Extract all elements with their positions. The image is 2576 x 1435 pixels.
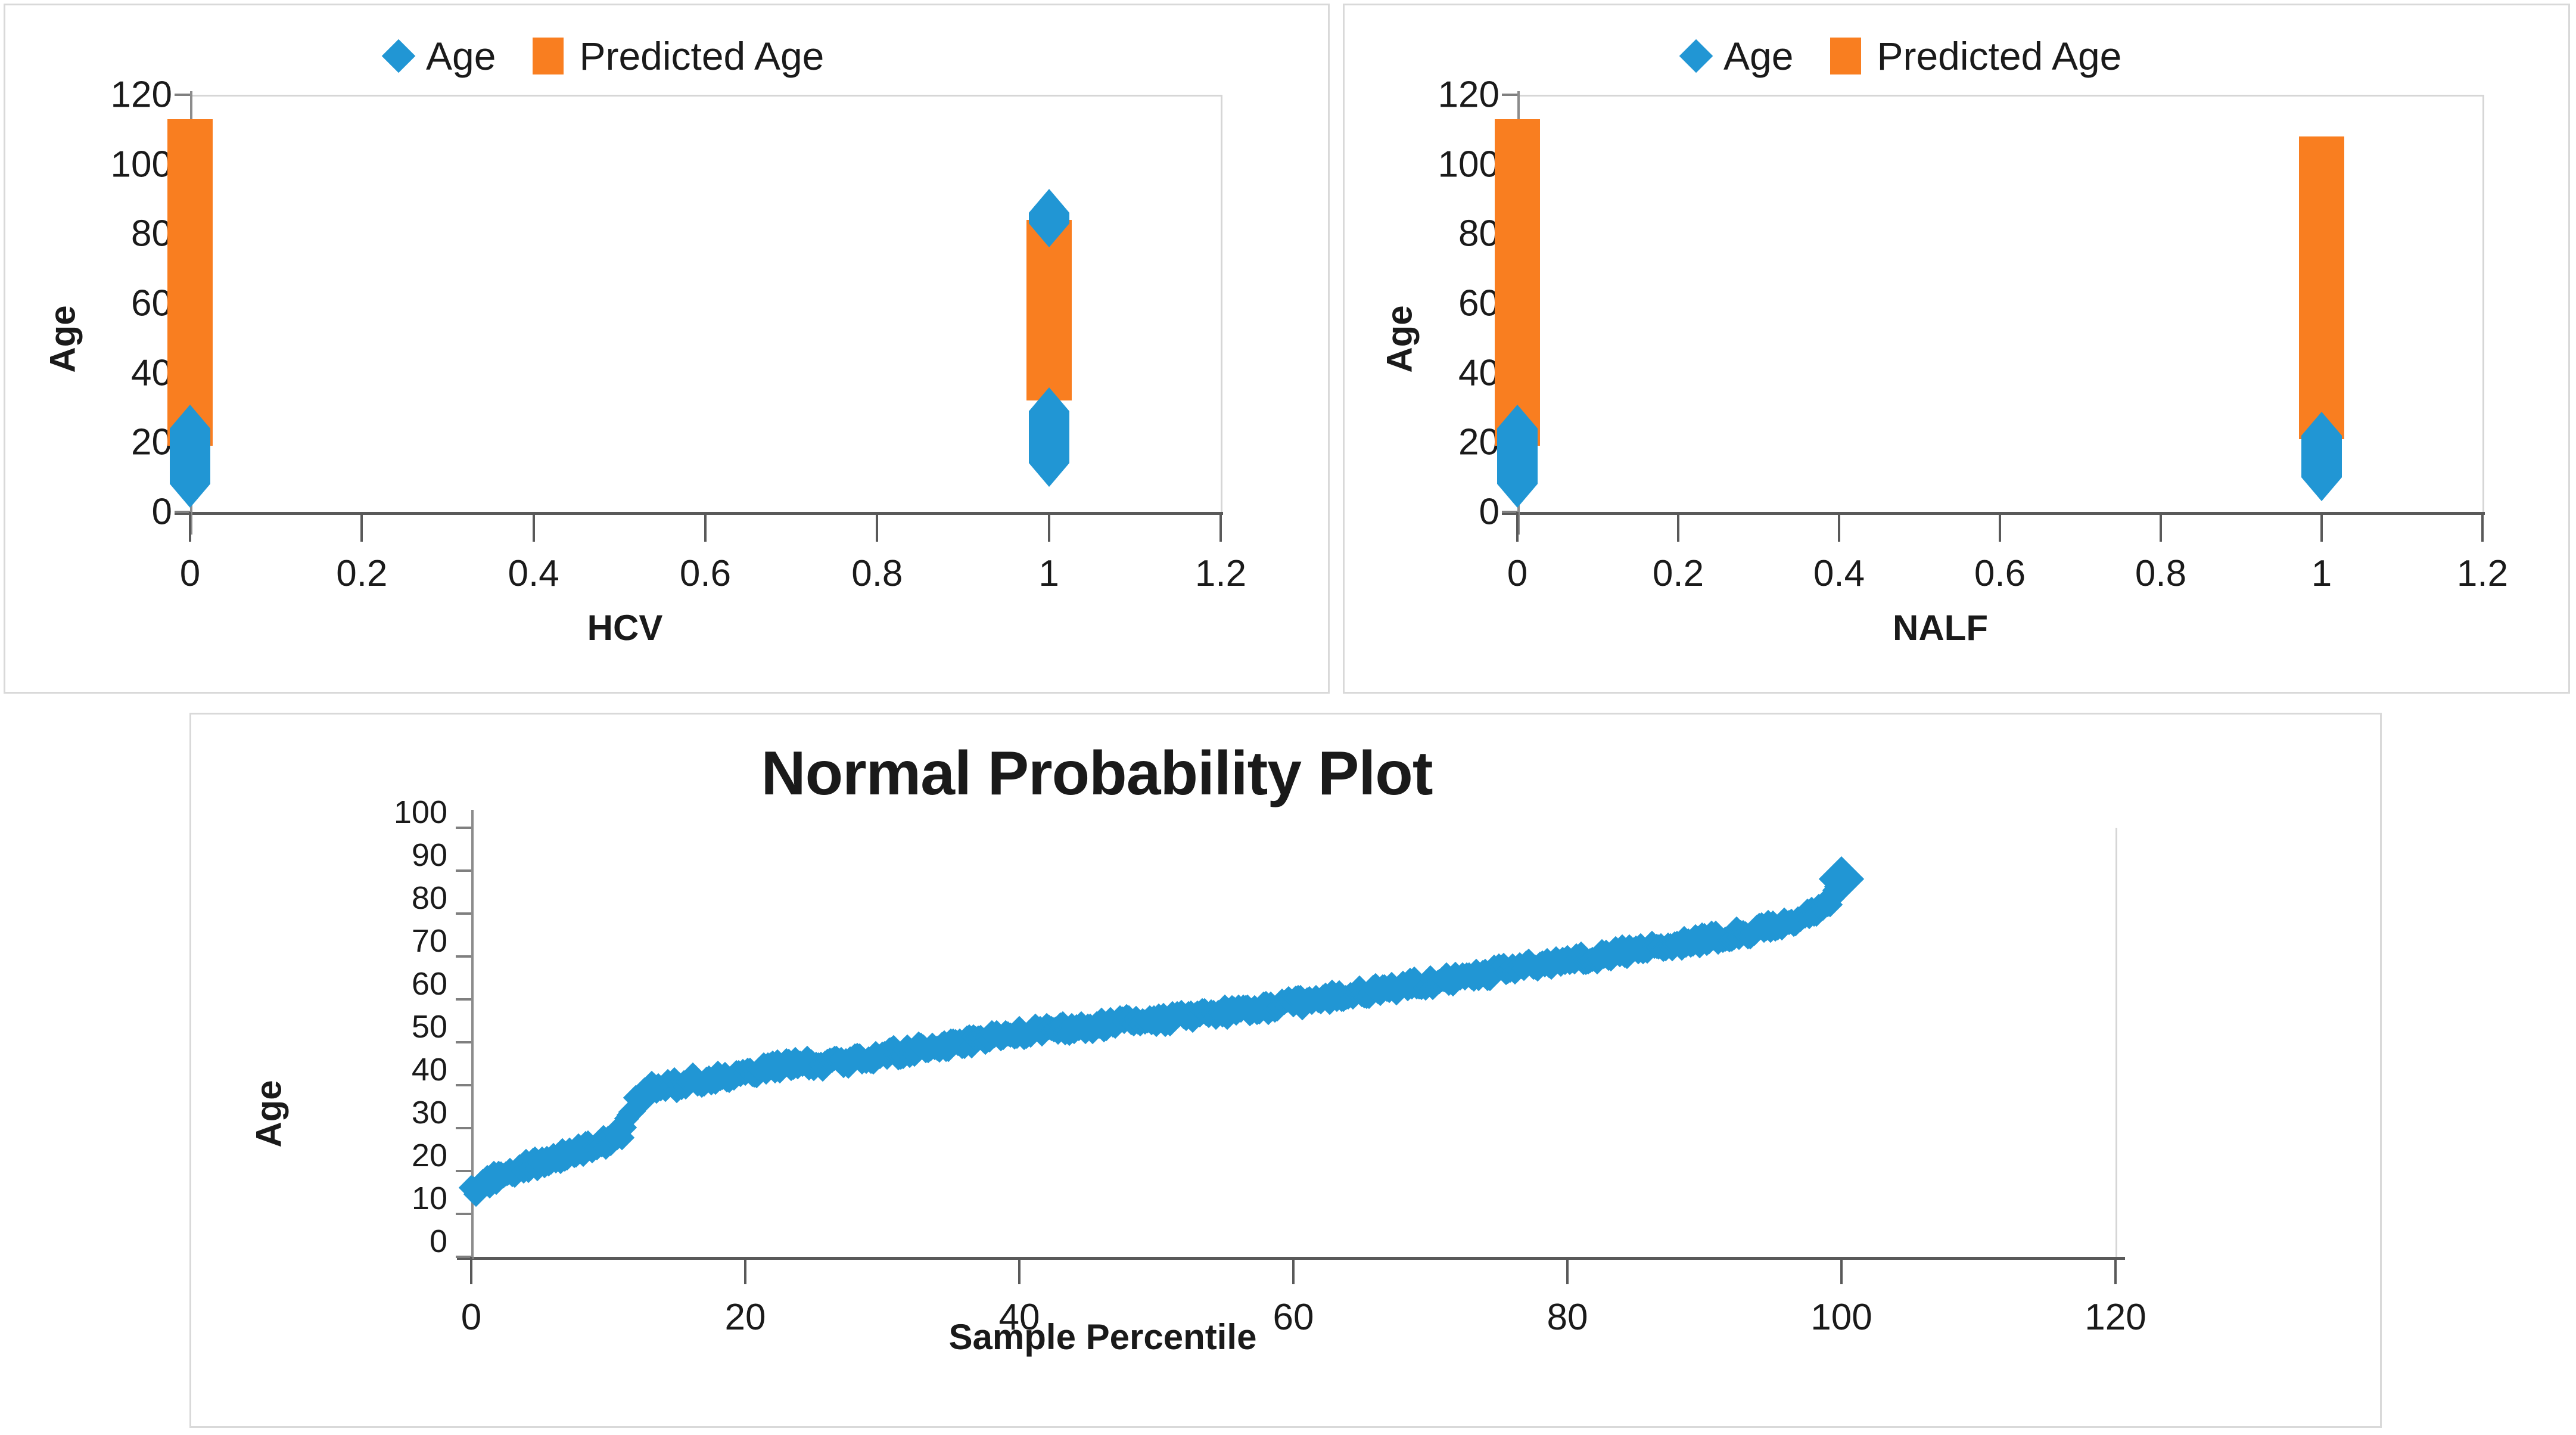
x-tick-label: 80: [1547, 1296, 1588, 1338]
y-tick-label: 30: [322, 1094, 447, 1131]
legend-label-predicted-age: Predicted Age: [579, 36, 824, 76]
x-tick-label: 120: [2085, 1296, 2146, 1338]
y-tick-label: 0: [59, 491, 172, 533]
legend-nalf: Age Predicted Age: [1684, 36, 2121, 76]
x-tick-label: 60: [1273, 1296, 1314, 1338]
x-tick: [704, 512, 707, 542]
x-tick: [1838, 512, 1840, 542]
x-axis-title-npp: Sample Percentile: [949, 1316, 1257, 1358]
y-tick-label: 0: [322, 1223, 447, 1260]
y-tick-label: 70: [322, 922, 447, 959]
age-diamond-tip: [170, 484, 210, 508]
x-tick: [876, 512, 878, 542]
x-tick-label: 0.6: [680, 552, 731, 595]
x-tick: [1840, 1257, 1843, 1284]
age-diamond-icon: [382, 39, 416, 73]
x-tick-label: 0.4: [508, 552, 559, 595]
y-tick-label: 60: [322, 965, 447, 1002]
predicted-age-bar: [1495, 119, 1540, 446]
x-axis-line: [1502, 512, 2485, 515]
x-tick-label: 0: [461, 1296, 481, 1338]
x-tick: [189, 512, 191, 542]
age-diamond-tip: [1029, 463, 1069, 487]
age-diamond-icon: [1679, 39, 1713, 73]
legend-item-predicted-age: Predicted Age: [1830, 36, 2121, 76]
y-tick-label: 100: [59, 143, 172, 185]
x-tick-label: 0.4: [1813, 552, 1865, 595]
y-tick-label: 20: [322, 1137, 447, 1174]
y-tick-label: 80: [59, 213, 172, 255]
legend-label-predicted-age: Predicted Age: [1877, 36, 2121, 76]
x-tick: [1516, 512, 1519, 542]
age-diamond-cluster: [1029, 213, 1069, 223]
y-tick: [456, 912, 471, 915]
y-tick-label: 20: [59, 421, 172, 464]
y-tick: [456, 869, 471, 872]
plot-frame-top: [1517, 95, 2482, 97]
legend-label-age: Age: [1723, 36, 1793, 76]
age-diamond-cluster: [2301, 436, 2342, 477]
age-diamond-tip: [1029, 387, 1069, 411]
x-tick-label: 0.6: [1974, 552, 2026, 595]
y-axis-title-nalf: Age: [1379, 305, 1420, 372]
x-tick: [1018, 1257, 1021, 1284]
age-diamond-tip: [170, 405, 210, 428]
predicted-age-bar: [2299, 136, 2344, 439]
y-tick-label: 80: [322, 880, 447, 917]
age-diamond-cluster: [170, 428, 210, 484]
x-tick-label: 0: [1507, 552, 1527, 595]
x-tick: [360, 512, 363, 542]
x-tick: [1677, 512, 1679, 542]
x-tick-label: 1.2: [1195, 552, 1246, 595]
age-diamond-tip: [1029, 223, 1069, 247]
legend-item-age: Age: [387, 36, 496, 76]
x-tick: [2160, 512, 2162, 542]
age-diamond-tip: [1497, 484, 1538, 508]
y-tick: [456, 1213, 471, 1215]
y-tick: [456, 1084, 471, 1086]
x-tick-label: 0: [180, 552, 200, 595]
x-tick-label: 0.8: [2135, 552, 2186, 595]
x-tick: [2114, 1257, 2117, 1284]
legend-hcv: Age Predicted Age: [387, 36, 824, 76]
age-diamond-tip: [2301, 477, 2342, 501]
age-diamond-tip: [1029, 189, 1069, 213]
y-tick-label: 100: [1386, 143, 1499, 185]
panel-normal-probability-plot: Normal Probability Plot 0102030405060708…: [189, 713, 2382, 1428]
y-tick: [456, 827, 471, 829]
y-tick: [175, 511, 190, 513]
x-axis-title-nalf: NALF: [1893, 607, 1988, 648]
plot-frame-right: [2482, 95, 2484, 512]
y-tick: [456, 1170, 471, 1172]
x-tick: [2320, 512, 2323, 542]
legend-item-predicted-age: Predicted Age: [533, 36, 824, 76]
y-tick: [456, 1256, 471, 1258]
x-tick-label: 1.2: [2457, 552, 2508, 595]
y-tick: [175, 94, 190, 96]
plot-frame-top: [190, 95, 1221, 97]
legend-item-age: Age: [1684, 36, 1793, 76]
plot-frame-right: [2115, 828, 2117, 1257]
x-tick-label: 1: [1038, 552, 1059, 595]
x-tick: [533, 512, 535, 542]
plot-frame-right: [1221, 95, 1222, 512]
y-tick: [456, 1041, 471, 1043]
y-tick: [1502, 511, 1517, 513]
x-tick-label: 0.8: [851, 552, 903, 595]
x-tick: [1292, 1257, 1295, 1284]
y-tick: [456, 998, 471, 1001]
x-tick: [470, 1257, 472, 1284]
x-tick: [744, 1257, 746, 1284]
x-axis-line: [457, 1257, 2125, 1260]
y-tick-label: 120: [1386, 74, 1499, 116]
panel-hcv: Age Predicted Age 02040608010012000.20.4…: [4, 4, 1330, 694]
age-diamond-cluster: [1029, 411, 1069, 464]
y-axis-title-hcv: Age: [42, 305, 83, 372]
x-tick: [1219, 512, 1222, 542]
y-tick-label: 100: [322, 794, 447, 831]
y-tick-label: 90: [322, 837, 447, 874]
y-tick: [456, 955, 471, 958]
x-tick-label: 0.2: [1653, 552, 1704, 595]
age-diamond-tip: [1497, 405, 1538, 428]
npp-title: Normal Probability Plot: [761, 738, 1433, 809]
x-axis-line: [175, 512, 1223, 515]
x-tick: [1566, 1257, 1569, 1284]
age-diamond-tip: [2301, 412, 2342, 436]
predicted-age-swatch-icon: [533, 38, 564, 74]
x-tick-label: 1: [2311, 552, 2332, 595]
x-tick: [2481, 512, 2484, 542]
y-tick-label: 0: [1386, 491, 1499, 533]
x-tick-label: 100: [1810, 1296, 1872, 1338]
y-tick-label: 20: [1386, 421, 1499, 464]
age-diamond-cluster: [1497, 428, 1538, 484]
legend-label-age: Age: [426, 36, 496, 76]
predicted-age-swatch-icon: [1830, 38, 1861, 74]
y-tick-label: 40: [322, 1051, 447, 1088]
x-tick-label: 0.2: [336, 552, 387, 595]
x-axis-title-hcv: HCV: [587, 607, 663, 648]
x-tick: [1048, 512, 1050, 542]
x-tick: [1999, 512, 2001, 542]
y-axis-title-npp: Age: [248, 1080, 290, 1147]
y-tick: [456, 1127, 471, 1129]
predicted-age-bar: [167, 119, 213, 446]
panel-nalf: Age Predicted Age 02040608010012000.20.4…: [1343, 4, 2570, 694]
y-tick-label: 10: [322, 1180, 447, 1217]
y-tick-label: 80: [1386, 213, 1499, 255]
y-tick: [1502, 94, 1517, 96]
y-tick-label: 50: [322, 1008, 447, 1045]
x-tick-label: 20: [725, 1296, 766, 1338]
y-tick-label: 120: [59, 74, 172, 116]
